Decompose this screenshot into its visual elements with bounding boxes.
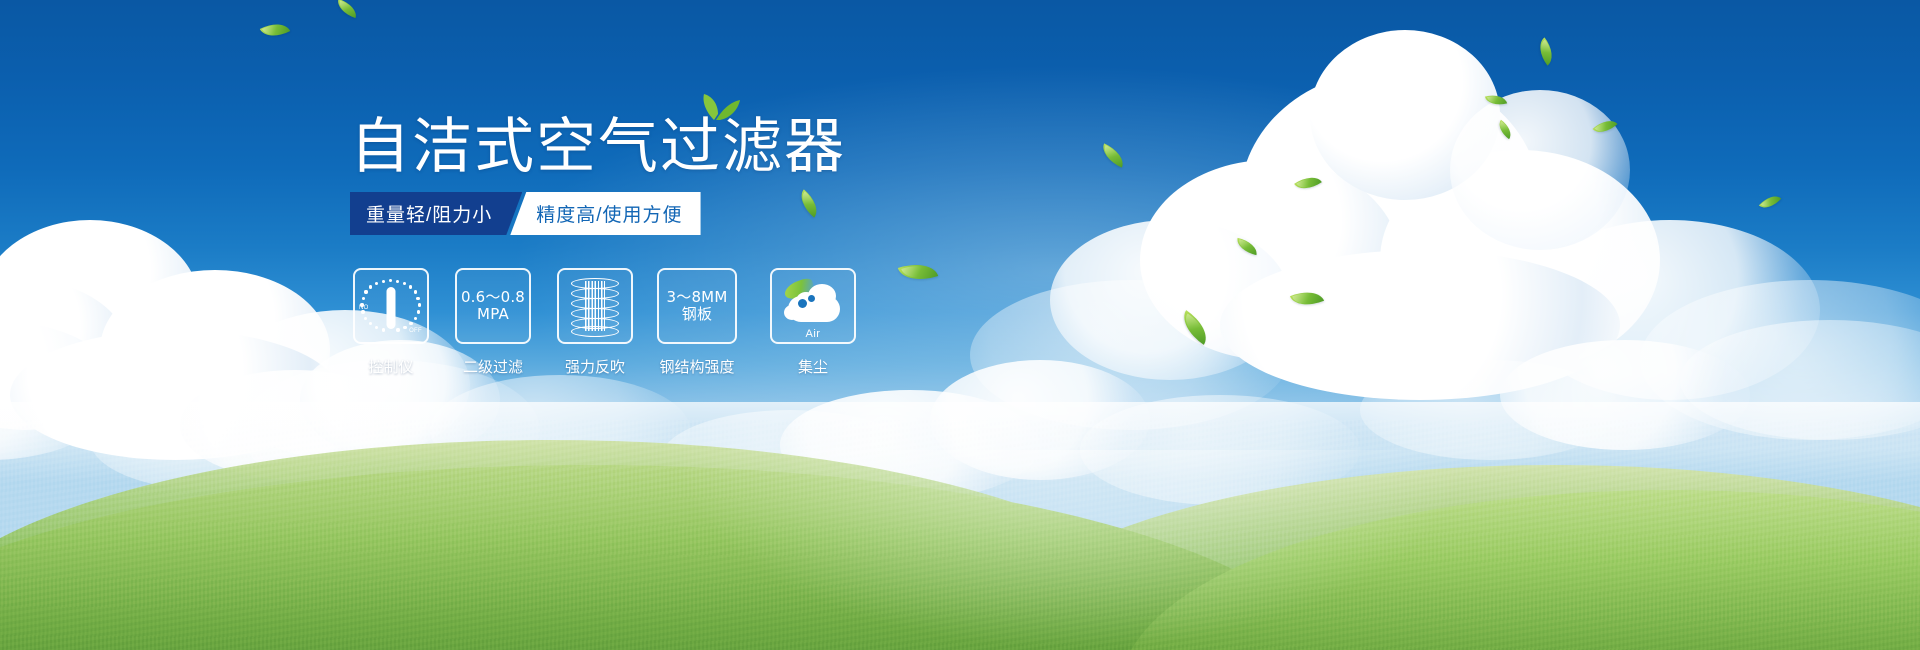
tagline-badges: 重量轻/阻力小 精度高/使用方便: [350, 192, 701, 235]
filter-stack-icon: [569, 277, 621, 335]
feature-box-line1: 0.6～0.8: [461, 289, 525, 306]
feature-caption: 钢结构强度: [659, 356, 734, 377]
feature-icon-box: Air: [770, 268, 856, 344]
feature-caption: 集尘: [798, 356, 828, 377]
air-cloud-icon: Air: [782, 282, 844, 328]
feature-box-line2: MPA: [477, 306, 509, 323]
badge-secondary: 精度高/使用方便: [510, 192, 700, 235]
feature-item[interactable]: 0.6～0.8 MPA 二级过滤: [454, 268, 532, 377]
banner-content: 自洁式空气过滤器 重量轻/阻力小 精度高/使用方便: [0, 0, 1920, 650]
feature-box-line1: 3～8MM: [667, 289, 728, 306]
badge-primary: 重量轻/阻力小: [350, 192, 522, 235]
air-label: Air: [782, 328, 844, 340]
feature-icon-box: 3～8MM 钢板: [657, 268, 737, 344]
feature-caption: 二级过滤: [463, 356, 523, 377]
feature-caption: 强力反吹: [565, 356, 625, 377]
page-title: 自洁式空气过滤器: [350, 117, 846, 177]
feature-caption: 控制仪: [368, 356, 413, 377]
gauge-label-start: NO: [359, 305, 369, 311]
feature-icon-box: NO OFF: [353, 268, 429, 344]
feature-item[interactable]: Air 集尘: [774, 268, 852, 377]
feature-icon-box: [557, 268, 633, 344]
gauge-label-end: OFF: [409, 328, 422, 334]
feature-icon-box: 0.6～0.8 MPA: [455, 268, 531, 344]
feature-item[interactable]: 强力反吹: [556, 268, 634, 377]
feature-box-line2: 钢板: [682, 306, 712, 323]
gauge-dial-icon: NO OFF: [360, 277, 422, 335]
feature-list: NO OFF 控制仪 0.6～0.8 MPA 二级过滤: [352, 268, 852, 377]
hero-banner: 自洁式空气过滤器 重量轻/阻力小 精度高/使用方便: [0, 0, 1920, 650]
feature-item[interactable]: NO OFF 控制仪: [352, 268, 430, 377]
feature-item[interactable]: 3～8MM 钢板 钢结构强度: [658, 268, 736, 377]
